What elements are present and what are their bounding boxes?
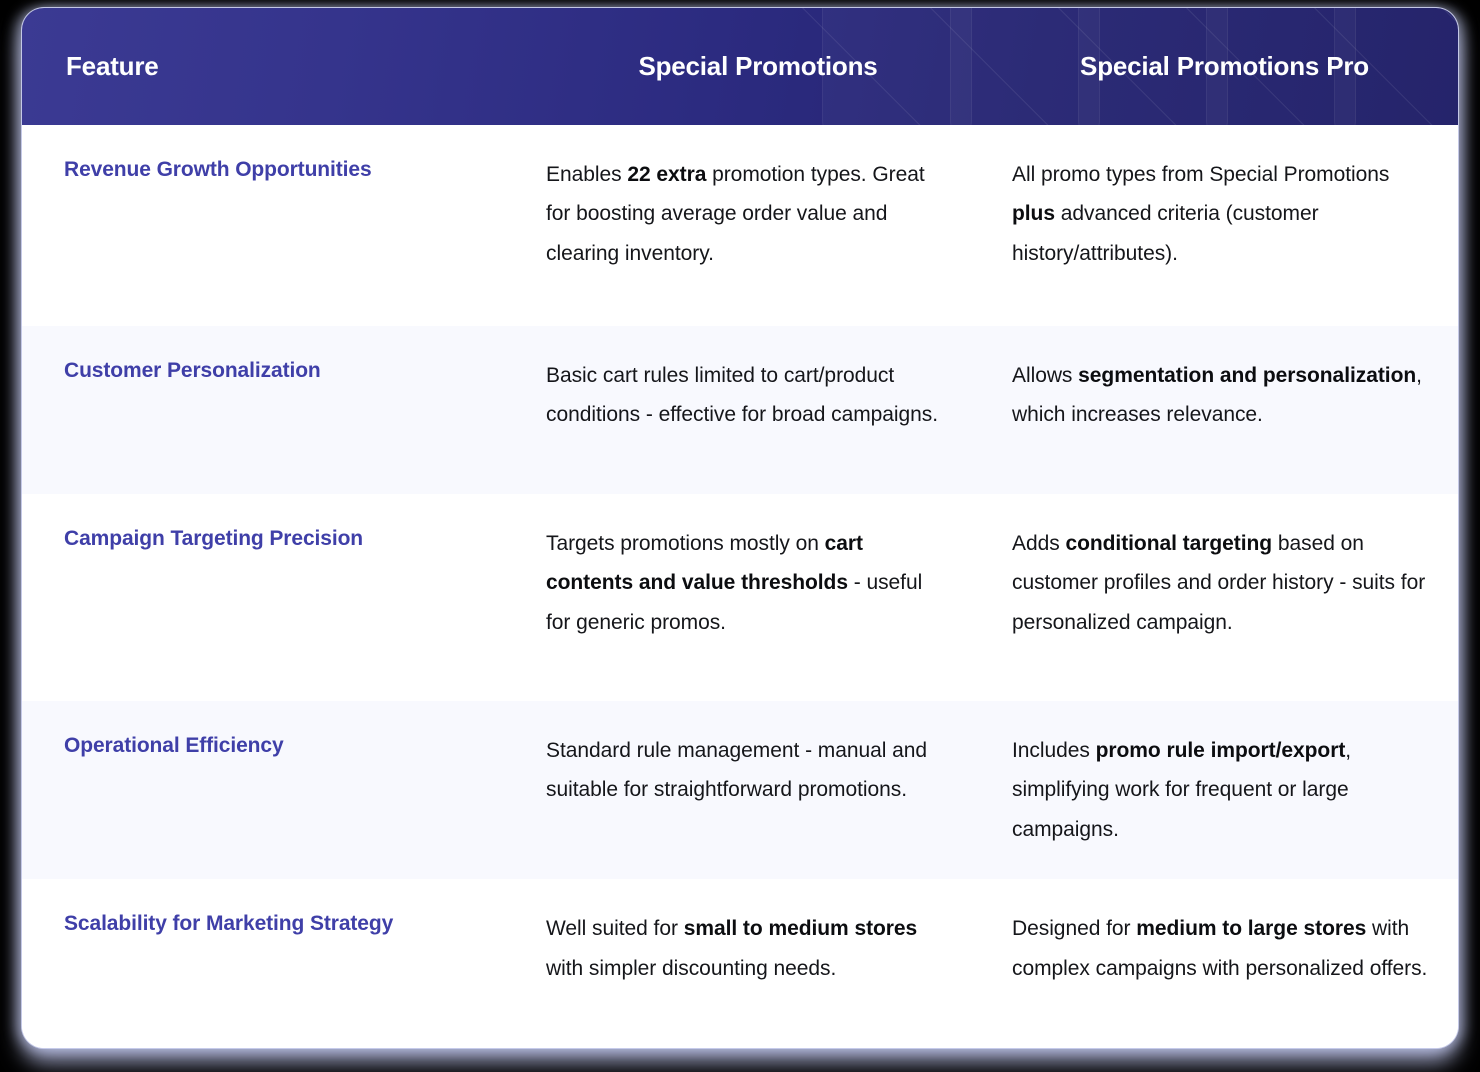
feature-label: Scalability for Marketing Strategy xyxy=(22,879,525,969)
cell-special-promotions: Standard rule management - manual and su… xyxy=(525,701,991,840)
table-row: Revenue Growth Opportunities Enables 22 … xyxy=(22,125,1458,326)
table-header: Feature Special Promotions Special Promo… xyxy=(22,8,1458,125)
cell-special-promotions-pro: Allows segmentation and personalization,… xyxy=(991,326,1458,465)
feature-label: Revenue Growth Opportunities xyxy=(22,125,525,215)
feature-label: Campaign Targeting Precision xyxy=(22,494,525,584)
cell-special-promotions-pro: Adds conditional targeting based on cust… xyxy=(991,494,1458,672)
table-body: Revenue Growth Opportunities Enables 22 … xyxy=(22,125,1458,1048)
cell-special-promotions-pro: Includes promo rule import/export, simpl… xyxy=(991,701,1458,879)
table-row: Operational Efficiency Standard rule man… xyxy=(22,701,1458,879)
cell-special-promotions-pro: Designed for medium to large stores with… xyxy=(991,879,1458,1018)
column-header-special-promotions-pro: Special Promotions Pro xyxy=(991,51,1458,82)
cell-special-promotions: Targets promotions mostly on cart conten… xyxy=(525,494,991,672)
table-row: Campaign Targeting Precision Targets pro… xyxy=(22,494,1458,701)
feature-label: Operational Efficiency xyxy=(22,701,525,791)
column-header-feature: Feature xyxy=(22,51,525,82)
screenshot-canvas: Feature Special Promotions Special Promo… xyxy=(0,0,1480,1072)
table-row: Scalability for Marketing Strategy Well … xyxy=(22,879,1458,1048)
feature-label: Customer Personalization xyxy=(22,326,525,416)
comparison-table-card: Feature Special Promotions Special Promo… xyxy=(22,8,1458,1048)
cell-special-promotions: Basic cart rules limited to cart/product… xyxy=(525,326,991,465)
cell-special-promotions: Well suited for small to medium stores w… xyxy=(525,879,991,1018)
column-header-special-promotions: Special Promotions xyxy=(525,51,991,82)
cell-special-promotions: Enables 22 extra promotion types. Great … xyxy=(525,125,991,303)
table-row: Customer Personalization Basic cart rule… xyxy=(22,326,1458,494)
cell-special-promotions-pro: All promo types from Special Promotions … xyxy=(991,125,1458,303)
